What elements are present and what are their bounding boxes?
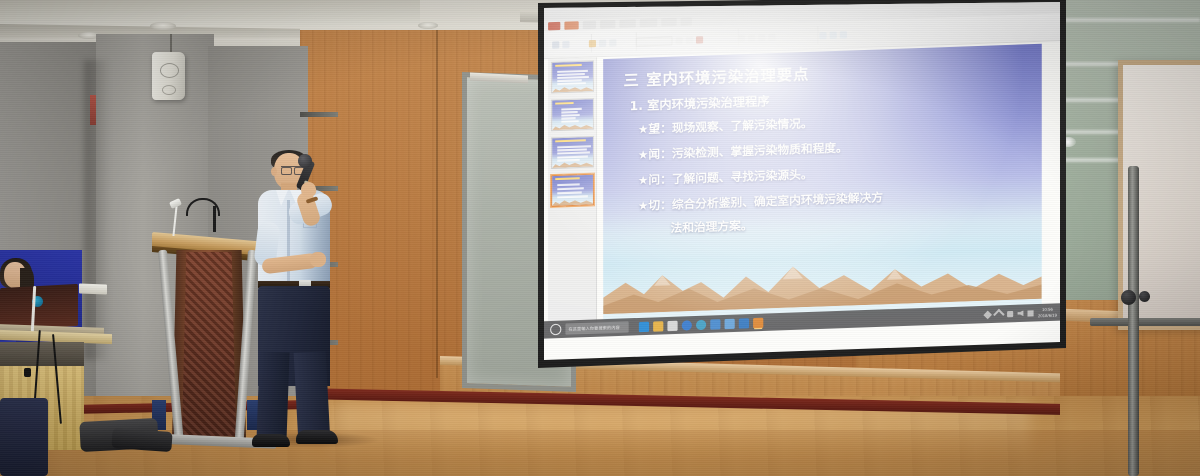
layout-icon[interactable] [599, 39, 606, 46]
taskbar-search-box[interactable]: 在这里输入你要搜索的内容 [565, 321, 628, 334]
slide-thumbnail-rail[interactable] [548, 57, 597, 332]
slide-bullet-1: ★望：现场观察、了解污染情况。 [638, 115, 813, 137]
font-name-box[interactable] [636, 36, 673, 46]
ribbon-group-drawing[interactable] [815, 24, 890, 45]
slide-text-block: 三 室内环境污染治理要点 1. 室内环境污染治理程序 ★望：现场观察、了解污染情… [603, 44, 1042, 327]
tab-design[interactable] [600, 19, 615, 28]
tray-icon-pen[interactable] [984, 310, 993, 319]
shapes-icon[interactable] [819, 31, 826, 38]
slide-thumbnail-3[interactable] [551, 136, 594, 169]
slide-thumbnail-4[interactable] [551, 174, 594, 207]
tab-transitions[interactable] [619, 19, 635, 28]
slide-thumbnail-1[interactable] [551, 60, 594, 93]
speaker-left-hand [310, 252, 326, 267]
whiteboard-lock-knob[interactable] [1139, 291, 1150, 302]
current-slide[interactable]: 三 室内环境污染治理要点 1. 室内环境污染治理程序 ★望：现场观察、了解污染情… [603, 44, 1042, 327]
taskbar-clock[interactable]: 10:56 2018/6/19 [1038, 307, 1057, 319]
chair [0, 398, 48, 476]
taskbar-icon-browser[interactable] [682, 320, 692, 331]
taskbar-icon-edge[interactable] [639, 321, 649, 332]
tab-home[interactable] [564, 21, 578, 30]
arrange-icon[interactable] [830, 31, 837, 38]
whiteboard-marker-tray [1090, 318, 1200, 326]
slide-bullet-2: ★闻：污染检测、掌握污染物质和程度。 [638, 139, 848, 163]
taskbar-icon-app7[interactable] [725, 318, 735, 329]
ribbon-group-paragraph[interactable] [734, 26, 819, 47]
tray-icon-network[interactable] [1007, 310, 1013, 316]
speaker-left-leg [256, 352, 289, 443]
taskbar-icon-app8[interactable] [739, 318, 749, 329]
lecture-hall-photo: 三 室内环境污染治理要点 1. 室内环境污染治理程序 ★望：现场观察、了解污染情… [0, 0, 1200, 476]
side-table-shelf [0, 342, 84, 366]
slide-bullet-4: ★切：综合分析鉴别、确定室内环境污染解决方 [638, 189, 883, 214]
slide-thumbnail-2[interactable] [551, 98, 594, 131]
laptop-screen[interactable] [0, 284, 78, 330]
font-color-icon[interactable] [696, 36, 703, 43]
taskbar-icon-app6[interactable] [710, 319, 720, 330]
tray-icon-volume[interactable] [1018, 310, 1024, 316]
ribbon-group-font[interactable] [632, 29, 739, 51]
cut-icon[interactable] [562, 40, 569, 47]
tab-file[interactable] [548, 21, 560, 30]
wall-marker [90, 95, 96, 125]
taskbar-icon-store[interactable] [667, 320, 677, 331]
slide-bullet-3: ★问：了解问题、寻找污染源头。 [638, 166, 813, 188]
new-slide-icon[interactable] [589, 39, 596, 46]
align-left-icon[interactable] [758, 34, 765, 41]
reset-icon[interactable] [609, 39, 616, 46]
podium-microphone-head [213, 206, 216, 232]
speaker-ear [271, 167, 277, 176]
speaker-right-shoe [296, 430, 338, 444]
column-shadow [84, 60, 110, 360]
numbering-icon[interactable] [748, 34, 755, 41]
start-button-icon[interactable] [550, 324, 561, 336]
speaker-cone-icon [160, 63, 179, 78]
ceiling-downlight-icon [150, 22, 176, 30]
speaker-left-shoe [252, 434, 290, 447]
taskbar-search-placeholder: 在这里输入你要搜索的内容 [568, 324, 619, 332]
tab-insert[interactable] [583, 20, 596, 29]
slide-title: 三 室内环境污染治理要点 [624, 63, 810, 91]
speaker-tweeter-icon [162, 85, 176, 95]
italic-icon[interactable] [686, 36, 693, 43]
whiteboard-height-knob[interactable] [1121, 290, 1136, 305]
taskbar-icon-powerpoint[interactable] [753, 317, 763, 328]
clock-date: 2018/6/19 [1038, 312, 1057, 318]
bold-icon[interactable] [676, 36, 683, 43]
tray-icon-chevron[interactable] [993, 308, 1005, 320]
paste-icon[interactable] [552, 41, 559, 48]
wall-track-bracket [300, 112, 338, 117]
podium-front-panel [182, 252, 236, 436]
network-device [79, 284, 107, 295]
taskbar-icon-app5[interactable] [696, 319, 706, 330]
quick-styles-icon[interactable] [840, 31, 847, 38]
tab-slideshow[interactable] [661, 17, 676, 26]
cable-clip [24, 368, 31, 377]
wood-panel-seam [436, 30, 438, 378]
whiteboard-stand-pole [1128, 166, 1139, 476]
tab-animations[interactable] [640, 18, 657, 27]
ceiling-downlight-icon [418, 22, 438, 29]
slide-bullet-4-continuation: 法和治理方案。 [670, 217, 752, 236]
taskbar-icon-explorer[interactable] [653, 321, 663, 332]
projection-screen[interactable]: 三 室内环境污染治理要点 1. 室内环境污染治理程序 ★望：现场观察、了解污染情… [544, 2, 1060, 360]
system-tray[interactable]: 10:56 2018/6/19 [985, 306, 1060, 320]
speaker-wire [170, 34, 172, 54]
slide-subtitle: 1. 室内环境污染治理程序 [630, 92, 770, 114]
taskbar-pinned-icons[interactable] [639, 317, 763, 332]
bullets-icon[interactable] [738, 34, 745, 41]
equipment-bag-secondary [111, 428, 172, 452]
tray-icon-battery[interactable] [1028, 310, 1034, 316]
handheld-microphone-icon [298, 154, 312, 168]
tab-view[interactable] [681, 17, 692, 26]
align-center-icon[interactable] [768, 33, 775, 40]
ribbon-group-slides[interactable] [585, 32, 637, 52]
